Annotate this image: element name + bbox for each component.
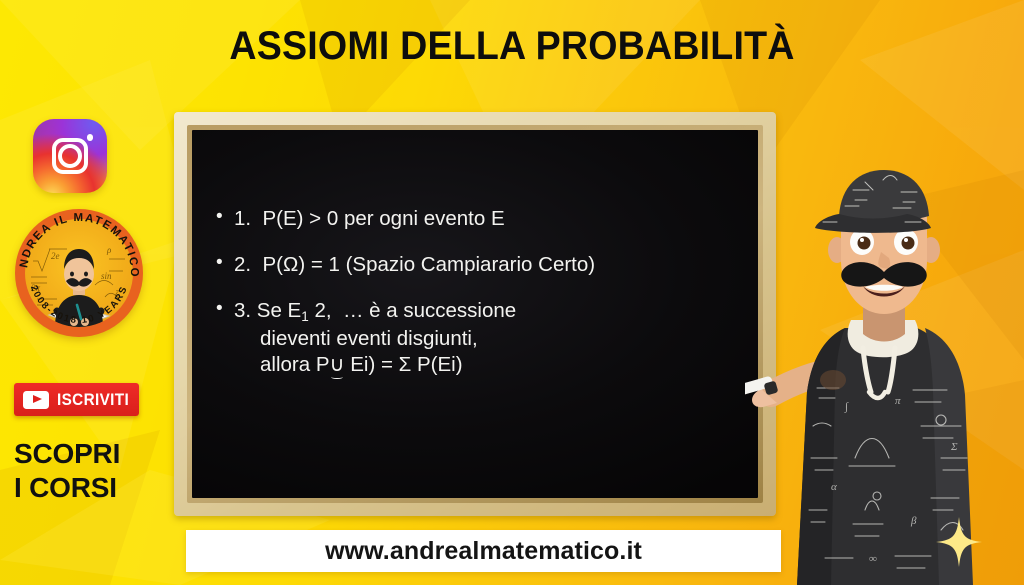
svg-text:β: β bbox=[910, 515, 917, 527]
youtube-subscribe-label: ISCRIVITI bbox=[57, 390, 129, 410]
axiom-2-line: 2. P(Ω) = 1 (Spazio Campiarario Certo) bbox=[234, 252, 744, 278]
blackboard-surface: • 1. P(E) > 0 per ogni evento E • 2. P(Ω… bbox=[192, 130, 758, 498]
axiom-item-1: • 1. P(E) > 0 per ogni evento E bbox=[216, 206, 744, 232]
sparkle-icon bbox=[936, 517, 982, 567]
axiom-3-seg-d: Ei) = Σ P(Ei) bbox=[345, 353, 463, 376]
svg-text:α: α bbox=[831, 481, 837, 493]
axiom-3-seg-c: allora P bbox=[260, 353, 330, 376]
instagram-dot-shape bbox=[87, 134, 94, 141]
svg-text:π: π bbox=[895, 395, 901, 407]
axiom-3-body: 3. Se E1 2, … è a successione dieventi e… bbox=[234, 298, 744, 378]
blackboard-frame: • 1. P(E) > 0 per ogni evento E • 2. P(Ω… bbox=[174, 112, 776, 516]
badge-bottom-label: 2008-2018 10 YEARS bbox=[28, 284, 130, 326]
instagram-lens-shape bbox=[58, 144, 82, 168]
andrea-matematico-badge[interactable]: 2e 2π ρ sin ζ bbox=[15, 209, 143, 337]
youtube-subscribe-button[interactable]: ISCRIVITI bbox=[14, 383, 139, 416]
badge-arc-bottom-text: 2008-2018 10 YEARS bbox=[15, 209, 143, 337]
axiom-2-body: 2. P(Ω) = 1 (Spazio Campiarario Certo) bbox=[234, 252, 744, 278]
website-url: www.andrealmatematico.it bbox=[325, 537, 642, 566]
bullet-icon: • bbox=[216, 298, 234, 319]
slide-canvas: ASSIOMI DELLA PROBABILITÀ • 1. P(E) > 0 … bbox=[0, 0, 1024, 585]
cta-line-1: SCOPRI bbox=[14, 437, 120, 471]
axiom-3-seg-b: 2, … è a successione bbox=[309, 299, 516, 322]
svg-text:2008-2018 10 YEARS: 2008-2018 10 YEARS bbox=[28, 284, 130, 326]
page-title: ASSIOMI DELLA PROBABILITÀ bbox=[31, 24, 994, 69]
andrea-mascot-illustration: ∫π Σα β∞ bbox=[745, 158, 1024, 585]
axiom-3-line-2: dieventi eventi disgiunti, bbox=[234, 326, 744, 352]
axiom-3-seg-a: 3. Se E bbox=[234, 299, 301, 322]
axiom-3-subscript: 1 bbox=[301, 309, 309, 324]
scopri-corsi-cta[interactable]: SCOPRI I CORSI bbox=[14, 437, 120, 505]
blackboard-content: • 1. P(E) > 0 per ogni evento E • 2. P(Ω… bbox=[216, 206, 744, 398]
axiom-1-line: 1. P(E) > 0 per ogni evento E bbox=[234, 206, 744, 232]
svg-text:∞: ∞ bbox=[869, 553, 877, 565]
axiom-item-3: • 3. Se E1 2, … è a successione dieventi… bbox=[216, 298, 744, 378]
axiom-item-2: • 2. P(Ω) = 1 (Spazio Campiarario Certo) bbox=[216, 252, 744, 278]
blackboard-bevel: • 1. P(E) > 0 per ogni evento E • 2. P(Ω… bbox=[187, 125, 763, 503]
union-symbol-icon: ∪ bbox=[330, 352, 345, 378]
instagram-icon[interactable] bbox=[33, 119, 107, 193]
svg-text:Σ: Σ bbox=[950, 441, 958, 453]
cta-line-2: I CORSI bbox=[14, 471, 120, 505]
website-bar[interactable]: www.andrealmatematico.it bbox=[186, 530, 781, 572]
bullet-icon: • bbox=[216, 206, 234, 227]
axiom-3-line-3: allora P∪ Ei) = Σ P(Ei) bbox=[234, 352, 744, 378]
bullet-icon: • bbox=[216, 252, 234, 273]
axiom-1-body: 1. P(E) > 0 per ogni evento E bbox=[234, 206, 744, 232]
axiom-3-line-1: 3. Se E1 2, … è a successione bbox=[234, 298, 744, 325]
youtube-play-icon bbox=[23, 391, 49, 409]
